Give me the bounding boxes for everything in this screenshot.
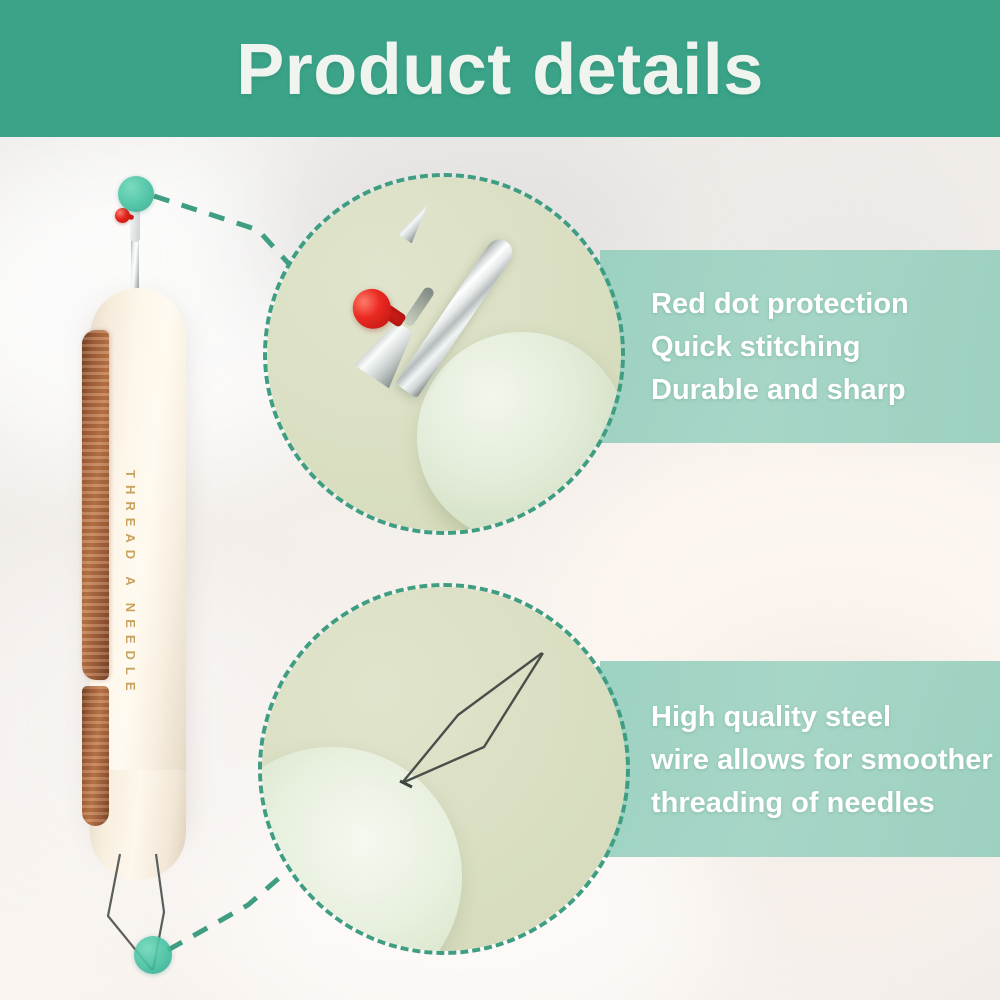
callout-text-bottom: High quality steel wire allows for smoot…: [651, 696, 993, 825]
seam-ripper-blade-group: [267, 177, 621, 531]
product-seam-ripper: THREAD A NEEDLE: [60, 170, 290, 1000]
marker-dot-top: [118, 176, 154, 212]
marker-dot-bottom: [134, 936, 172, 974]
page-title: Product details: [236, 34, 764, 106]
copper-grip-icon: [82, 330, 109, 680]
callout-text-top: Red dot protection Quick stitching Durab…: [651, 283, 909, 412]
header-banner: Product details: [0, 0, 1000, 137]
product-wire-threader-icon: [60, 830, 290, 1000]
blade-sharp-tip: [398, 200, 435, 244]
product-brand-text: THREAD A NEEDLE: [123, 470, 138, 698]
product-details-infographic: Product details Red dot prot: [0, 0, 1000, 1000]
zoom-circle-red-dot: [263, 173, 625, 535]
zoom-circle-wire-threader: [258, 583, 630, 955]
steel-wire-threader-icon: [262, 587, 626, 951]
blade-cutting-notch: [402, 285, 436, 328]
product-blade-head: [130, 208, 140, 242]
red-dot-protection-icon: [349, 285, 396, 333]
copper-grip-lower-icon: [82, 686, 109, 826]
